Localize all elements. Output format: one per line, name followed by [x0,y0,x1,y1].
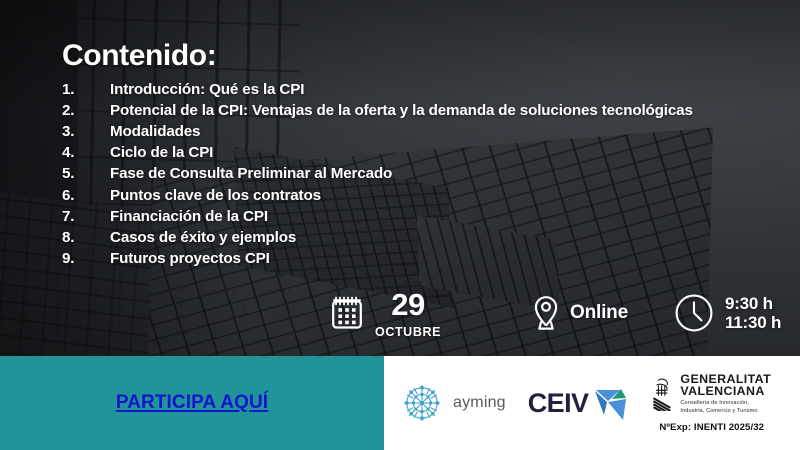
event-location: Online [531,294,628,332]
event-day: 29 [375,289,441,320]
list-item-number: 1. [62,80,110,100]
list-item-label: Puntos clave de los contratos [110,186,720,206]
location-label: Online [570,302,628,324]
logo-ceiv: CEIV [528,382,627,424]
gva-subline: Conselleria de Innovación, Industria, Co… [680,400,771,415]
list-item-number: 5. [62,164,110,184]
list-item: 6. Puntos clave de los contratos [62,186,800,206]
agenda-list: 1. Introducción: Qué es la CPI 2. Potenc… [62,80,800,270]
generalitat-valenciana-crest-icon [652,377,674,411]
participate-link[interactable]: PARTICIPA AQUÍ [116,392,268,414]
list-item-label: Ciclo de la CPI [110,143,720,163]
logo-ayming: ayming [398,379,506,427]
list-item-number: 3. [62,122,110,142]
list-item-number: 9. [62,249,110,269]
ceiv-wordmark: CEIV [528,388,589,419]
list-item: 3. Modalidades [62,122,800,142]
ayming-wordmark: ayming [453,394,506,412]
list-item-label: Introducción: Qué es la CPI [110,80,720,100]
ayming-network-icon [398,379,446,427]
map-pin-icon [531,294,561,332]
calendar-icon [330,295,364,331]
list-item-label: Casos de éxito y ejemplos [110,228,720,248]
list-item: 5. Fase de Consulta Preliminar al Mercad… [62,164,800,184]
footer-logo-panel: ayming CEIV [384,356,800,450]
list-item-number: 6. [62,186,110,206]
page-title: Contenido: [62,40,800,72]
list-item-number: 4. [62,143,110,163]
list-item-label: Fase de Consulta Preliminar al Mercado [110,164,720,184]
list-item: 9. Futuros proyectos CPI [62,249,800,269]
footer-cta-panel: PARTICIPA AQUÍ [0,356,384,450]
time-end: 11:30 h [725,313,781,332]
clock-icon [674,293,714,333]
gva-text-block: GENERALITAT VALENCIANA Conselleria de In… [680,373,771,416]
list-item: 1. Introducción: Qué es la CPI [62,80,800,100]
list-item-number: 2. [62,101,110,121]
gva-logo-row: GENERALITAT VALENCIANA Conselleria de In… [652,373,771,416]
ceiv-arrow-icon [582,382,626,424]
list-item: 8. Casos de éxito y ejemplos [62,228,800,248]
event-date: 29 OCTUBRE [330,289,441,339]
expediente-number: NºExp: INENTI 2025/32 [659,422,764,433]
list-item-label: Futuros proyectos CPI [110,249,720,269]
list-item-number: 7. [62,207,110,227]
list-item-label: Potencial de la CPI: Ventajas de la ofer… [110,101,720,121]
logo-generalitat-valenciana: GENERALITAT VALENCIANA Conselleria de In… [652,373,771,434]
time-text-block: 9:30 h 11:30 h [725,294,781,332]
footer-bar: PARTICIPA AQUÍ [0,356,800,450]
event-time: 9:30 h 11:30 h [674,293,781,333]
list-item-label: Financiación de la CPI [110,207,720,227]
gva-line-2: VALENCIANA [680,385,771,398]
list-item: 2. Potencial de la CPI: Ventajas de la o… [62,101,800,121]
date-text-block: 29 OCTUBRE [375,289,441,339]
list-item: 4. Ciclo de la CPI [62,143,800,163]
event-info-strip: 29 OCTUBRE Online 9:30 h 11:30 h [330,289,781,339]
event-month: OCTUBRE [375,326,441,339]
presentation-slide: Contenido: 1. Introducción: Qué es la CP… [0,0,800,450]
time-start: 9:30 h [725,294,781,313]
list-item-label: Modalidades [110,122,720,142]
list-item: 7. Financiación de la CPI [62,207,800,227]
list-item-number: 8. [62,228,110,248]
